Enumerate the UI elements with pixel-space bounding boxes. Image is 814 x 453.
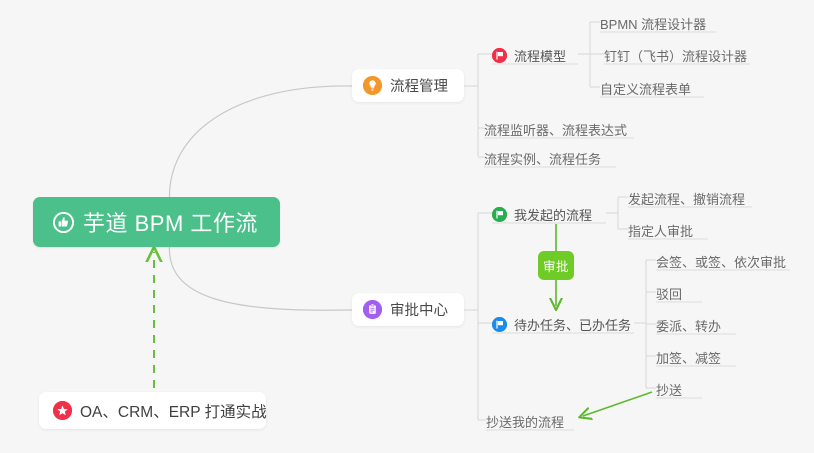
node-custom-process-form[interactable]: 自定义流程表单: [600, 79, 691, 101]
node-process-model[interactable]: 流程模型: [492, 46, 566, 68]
flag-icon-blue: [492, 317, 507, 332]
node-start-cancel-process-label: 发起流程、撤销流程: [628, 189, 745, 208]
node-cc-to-me-processes[interactable]: 抄送我的流程: [486, 412, 564, 434]
node-process-model-label: 流程模型: [514, 46, 566, 65]
node-reject[interactable]: 驳回: [656, 284, 682, 306]
node-add-remove-sign[interactable]: 加签、减签: [656, 348, 721, 370]
node-assignee-approval[interactable]: 指定人审批: [628, 221, 693, 243]
node-process-management[interactable]: 流程管理: [352, 69, 464, 102]
node-cc-to-me-processes-label: 抄送我的流程: [486, 412, 564, 431]
node-my-initiated-processes-label: 我发起的流程: [514, 205, 592, 224]
node-todo-done-tasks-label: 待办任务、已办任务: [514, 315, 631, 334]
approve-pill: 审批: [538, 251, 574, 280]
root-label: 芋道 BPM 工作流: [83, 206, 258, 238]
arrow-cc-to-cc-to-me: [583, 392, 652, 416]
node-reject-label: 驳回: [656, 284, 682, 303]
node-process-instance-task-label: 流程实例、流程任务: [484, 149, 601, 168]
wire-root-to-process-management: [169, 86, 352, 208]
clipboard-icon: [363, 300, 382, 319]
node-bpmn-designer-label: BPMN 流程设计器: [600, 14, 706, 33]
node-approval-center-label: 审批中心: [390, 299, 448, 320]
node-todo-done-tasks[interactable]: 待办任务、已办任务: [492, 315, 631, 337]
star-icon: [53, 401, 72, 420]
approve-pill-label: 审批: [543, 256, 569, 275]
node-delegate-transfer-label: 委派、转办: [656, 316, 721, 335]
node-delegate-transfer[interactable]: 委派、转办: [656, 316, 721, 338]
wire-root-to-approval-center: [169, 240, 352, 310]
node-cc-label: 抄送: [656, 380, 682, 399]
node-assignee-approval-label: 指定人审批: [628, 221, 693, 240]
root-node[interactable]: 芋道 BPM 工作流: [33, 197, 280, 247]
node-countersign-orsign-sequential-label: 会签、或签、依次审批: [656, 252, 786, 271]
node-countersign-orsign-sequential[interactable]: 会签、或签、依次审批: [656, 252, 786, 274]
mindmap-canvas: 芋道 BPM 工作流 流程管理 审批中心: [0, 0, 814, 453]
flag-icon-green: [492, 207, 507, 222]
node-integration[interactable]: OA、CRM、ERP 打通实战: [39, 392, 266, 429]
node-process-listener-expression-label: 流程监听器、流程表达式: [484, 120, 627, 139]
node-custom-process-form-label: 自定义流程表单: [600, 79, 691, 98]
node-dingtalk-feishu-designer-label: 钉钉（飞书）流程设计器: [604, 46, 747, 65]
node-bpmn-designer[interactable]: BPMN 流程设计器: [600, 14, 706, 36]
node-cc[interactable]: 抄送: [656, 380, 682, 402]
node-add-remove-sign-label: 加签、减签: [656, 348, 721, 367]
node-integration-label: OA、CRM、ERP 打通实战: [80, 400, 267, 422]
node-process-management-label: 流程管理: [390, 75, 448, 96]
node-start-cancel-process[interactable]: 发起流程、撤销流程: [628, 189, 745, 211]
node-my-initiated-processes[interactable]: 我发起的流程: [492, 205, 592, 227]
node-dingtalk-feishu-designer[interactable]: 钉钉（飞书）流程设计器: [604, 46, 747, 68]
node-process-listener-expression[interactable]: 流程监听器、流程表达式: [484, 120, 627, 142]
thumbs-up-icon: [53, 212, 74, 233]
node-process-instance-task[interactable]: 流程实例、流程任务: [484, 149, 601, 171]
node-approval-center[interactable]: 审批中心: [352, 293, 464, 326]
pin-icon: [363, 76, 382, 95]
flag-icon-red: [492, 48, 507, 63]
